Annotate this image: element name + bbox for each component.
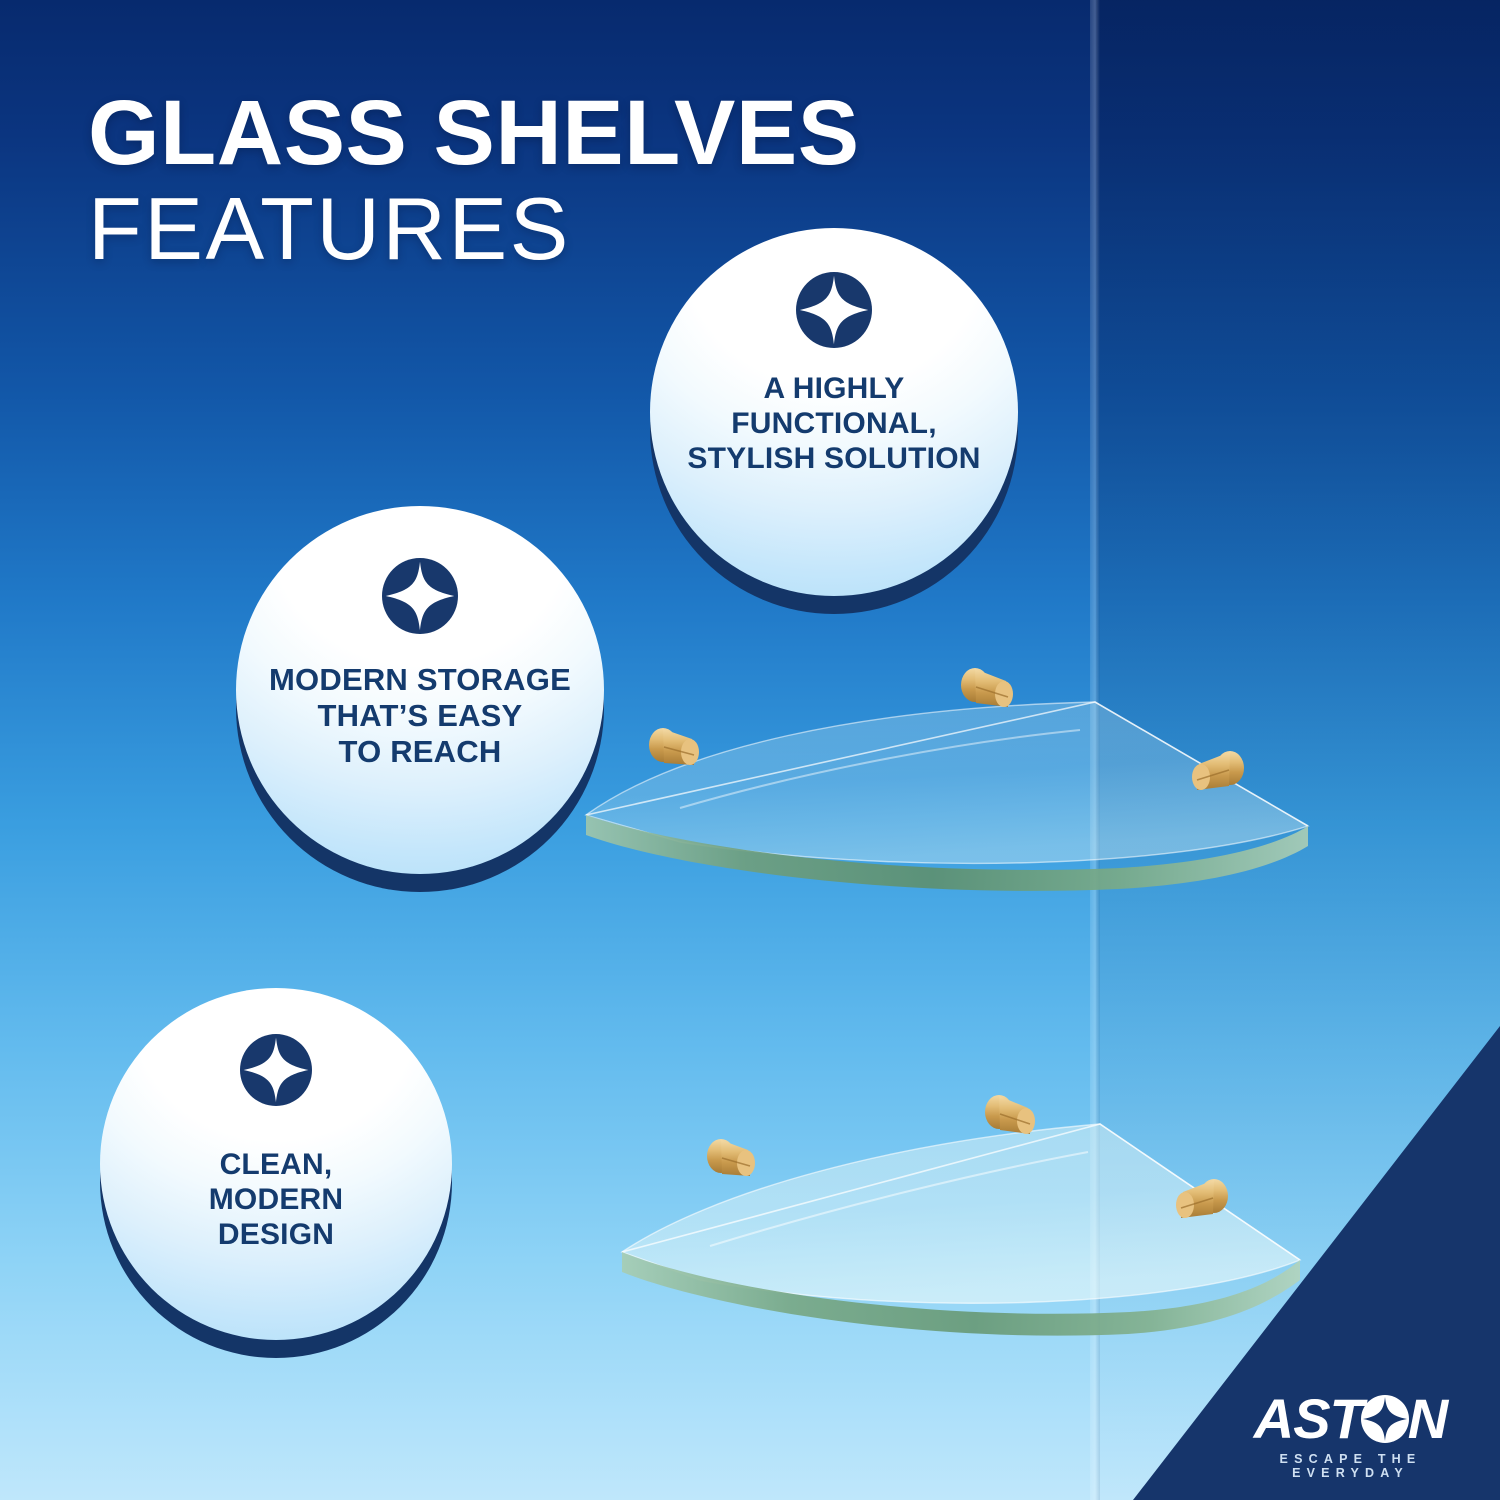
four-point-star-icon bbox=[382, 558, 458, 634]
feature-badge-clean-modern-design[interactable]: CLEAN, MODERN DESIGN bbox=[100, 988, 452, 1340]
bracket bbox=[707, 1139, 755, 1176]
title-line-1: GLASS SHELVES bbox=[88, 88, 860, 178]
four-point-star-icon bbox=[796, 272, 872, 348]
aston-wordmark: AST N bbox=[1243, 1391, 1458, 1447]
lower-shelf bbox=[600, 1080, 1340, 1380]
four-point-star-icon bbox=[240, 1034, 312, 1106]
bracket bbox=[985, 1095, 1035, 1134]
bracket bbox=[649, 728, 699, 765]
upper-shelf bbox=[560, 630, 1340, 930]
badge-text-line: DESIGN bbox=[209, 1218, 344, 1253]
badge-text: CLEAN, MODERN DESIGN bbox=[209, 1148, 344, 1252]
badge-disc: CLEAN, MODERN DESIGN bbox=[100, 988, 452, 1340]
badge-text-line: A HIGHLY bbox=[687, 372, 980, 407]
feature-badge-highly-functional[interactable]: A HIGHLY FUNCTIONAL, STYLISH SOLUTION bbox=[650, 228, 1018, 596]
badge-text-line: CLEAN, bbox=[209, 1148, 344, 1183]
infographic-canvas: GLASS SHELVES FEATURES A HIGHLY FUNCTION… bbox=[0, 0, 1500, 1500]
badge-text-line: TO REACH bbox=[269, 734, 571, 770]
badge-disc: MODERN STORAGE THAT’S EASY TO REACH bbox=[236, 506, 604, 874]
aston-logo[interactable]: AST N ESCAPE THE EVERYDAY bbox=[1243, 1391, 1458, 1480]
badge-text: MODERN STORAGE THAT’S EASY TO REACH bbox=[269, 662, 571, 770]
logo-text-before-mark: AST bbox=[1254, 1391, 1363, 1447]
badge-text-line: THAT’S EASY bbox=[269, 698, 571, 734]
badge-disc: A HIGHLY FUNCTIONAL, STYLISH SOLUTION bbox=[650, 228, 1018, 596]
badge-text-line: MODERN STORAGE bbox=[269, 662, 571, 698]
badge-text-line: STYLISH SOLUTION bbox=[687, 442, 980, 477]
badge-text-line: MODERN bbox=[209, 1183, 344, 1218]
badge-text: A HIGHLY FUNCTIONAL, STYLISH SOLUTION bbox=[687, 372, 980, 476]
feature-badge-modern-storage[interactable]: MODERN STORAGE THAT’S EASY TO REACH bbox=[236, 506, 604, 874]
bracket bbox=[961, 668, 1013, 707]
logo-text-after-mark: N bbox=[1408, 1391, 1447, 1447]
aston-tagline: ESCAPE THE EVERYDAY bbox=[1243, 1452, 1458, 1480]
four-point-star-icon bbox=[1360, 1394, 1410, 1444]
badge-text-line: FUNCTIONAL, bbox=[687, 407, 980, 442]
